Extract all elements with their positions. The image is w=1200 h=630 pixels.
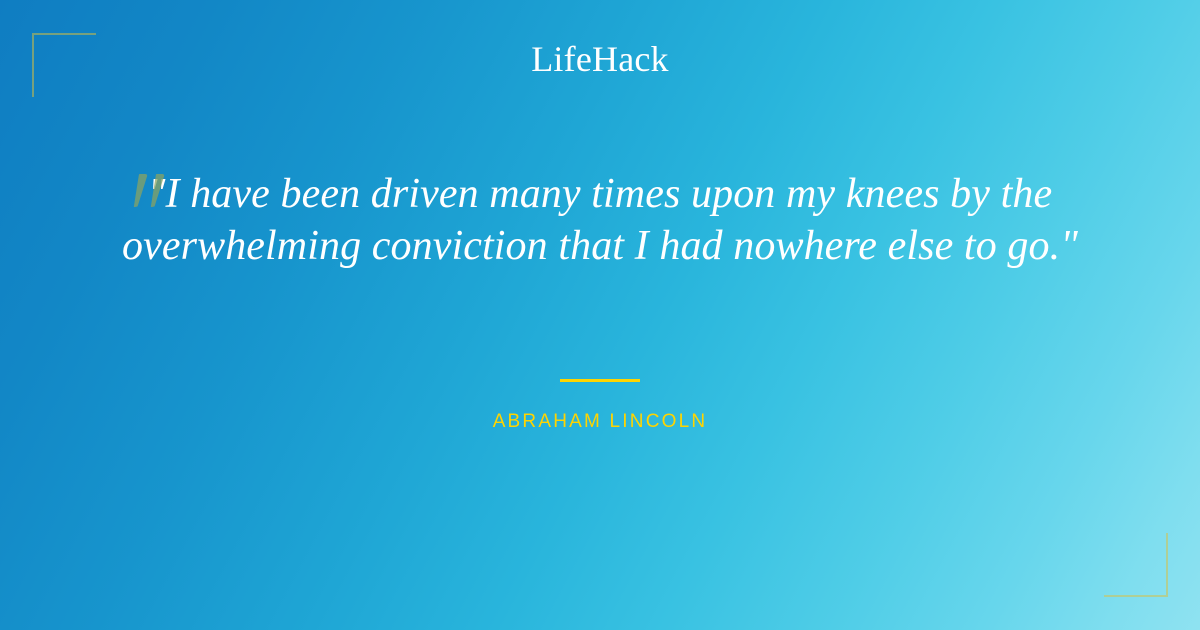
quotation-mark-stroke-right <box>147 174 165 207</box>
corner-bracket-bottom-right-icon <box>1104 533 1168 597</box>
attribution-divider <box>560 379 640 382</box>
quote-card: LifeHack "I have been driven many times … <box>0 0 1200 630</box>
quotation-mark-stroke-left <box>130 174 148 207</box>
quote-block: "I have been driven many times upon my k… <box>0 168 1200 272</box>
attribution: ABRAHAM LINCOLN <box>0 379 1200 433</box>
quote-line-2: overwhelming conviction that I had nowhe… <box>95 220 1105 272</box>
quote-author: ABRAHAM LINCOLN <box>0 411 1200 433</box>
quote-text: "I have been driven many times upon my k… <box>0 168 1200 272</box>
brand-logo-text: LifeHack <box>531 41 669 77</box>
brand-logo[interactable]: LifeHack <box>0 41 1200 77</box>
quotation-mark-icon <box>128 168 174 212</box>
quote-line-1: "I have been driven many times upon my k… <box>95 168 1105 220</box>
